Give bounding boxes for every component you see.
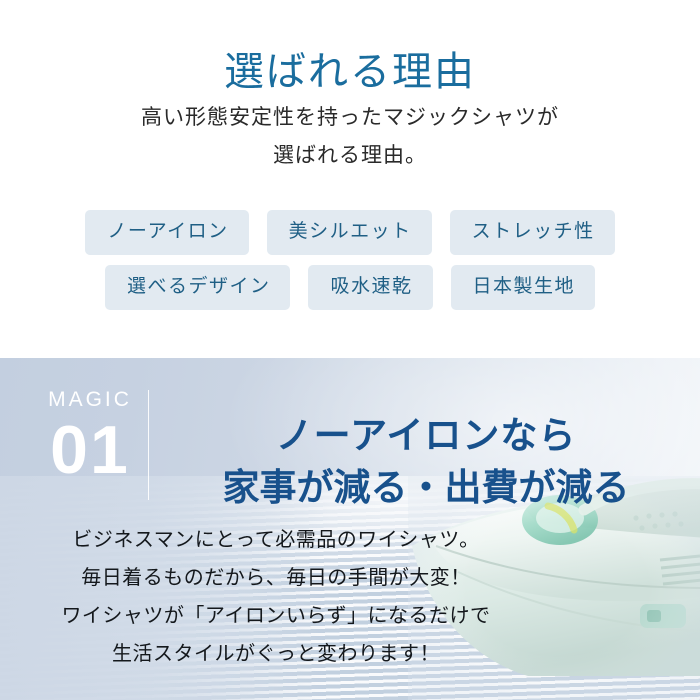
feature-tag-silhouette[interactable]: 美シルエット bbox=[267, 210, 432, 255]
product-feature-page: 選ばれる理由 高い形態安定性を持ったマジックシャツが 選ばれる理由。 ノーアイロ… bbox=[0, 0, 700, 700]
page-title: 選ばれる理由 bbox=[0, 47, 700, 97]
feature-tag-quick-dry[interactable]: 吸水速乾 bbox=[308, 265, 432, 310]
magic-body-line-3: ワイシャツが「アイロンいらず」になるだけで bbox=[0, 597, 552, 635]
magic-headline: ノーアイロンなら 家事が減る・出費が減る bbox=[168, 411, 684, 515]
magic-headline-line-2: 家事が減る・出費が減る bbox=[168, 463, 684, 515]
page-subtitle: 高い形態安定性を持ったマジックシャツが 選ばれる理由。 bbox=[0, 98, 700, 174]
magic-badge-word: MAGIC bbox=[36, 388, 144, 412]
magic-body-line-2: 毎日着るものだから、毎日の手間が大変！ bbox=[0, 559, 552, 597]
feature-tag-no-iron[interactable]: ノーアイロン bbox=[85, 210, 248, 255]
magic-01-section: MAGIC 01 ノーアイロンなら 家事が減る・出費が減る ビジネスマンにとって… bbox=[0, 358, 700, 700]
feature-tag-row-1: ノーアイロン 美シルエット ストレッチ性 bbox=[0, 210, 700, 255]
magic-body-line-1: ビジネスマンにとって必需品のワイシャツ。 bbox=[0, 521, 552, 559]
magic-headline-line-1: ノーアイロンなら bbox=[168, 411, 684, 463]
magic-body-copy: ビジネスマンにとって必需品のワイシャツ。 毎日着るものだから、毎日の手間が大変！… bbox=[0, 521, 552, 673]
magic-badge-number: 01 bbox=[36, 414, 144, 486]
feature-tag-list: ノーアイロン 美シルエット ストレッチ性 選べるデザイン 吸水速乾 日本製生地 bbox=[0, 210, 700, 320]
feature-tag-row-2: 選べるデザイン 吸水速乾 日本製生地 bbox=[0, 265, 700, 310]
subtitle-line-2: 選ばれる理由。 bbox=[0, 136, 700, 174]
magic-badge-divider bbox=[148, 390, 149, 500]
magic-badge: MAGIC 01 bbox=[36, 388, 144, 486]
magic-body-line-4: 生活スタイルがぐっと変わります！ bbox=[0, 635, 552, 673]
subtitle-line-1: 高い形態安定性を持ったマジックシャツが bbox=[0, 98, 700, 136]
feature-tag-design[interactable]: 選べるデザイン bbox=[105, 265, 291, 310]
reasons-section: 選ばれる理由 高い形態安定性を持ったマジックシャツが 選ばれる理由。 ノーアイロ… bbox=[0, 0, 700, 358]
feature-tag-japan-fabric[interactable]: 日本製生地 bbox=[451, 265, 596, 310]
feature-tag-stretch[interactable]: ストレッチ性 bbox=[450, 210, 615, 255]
